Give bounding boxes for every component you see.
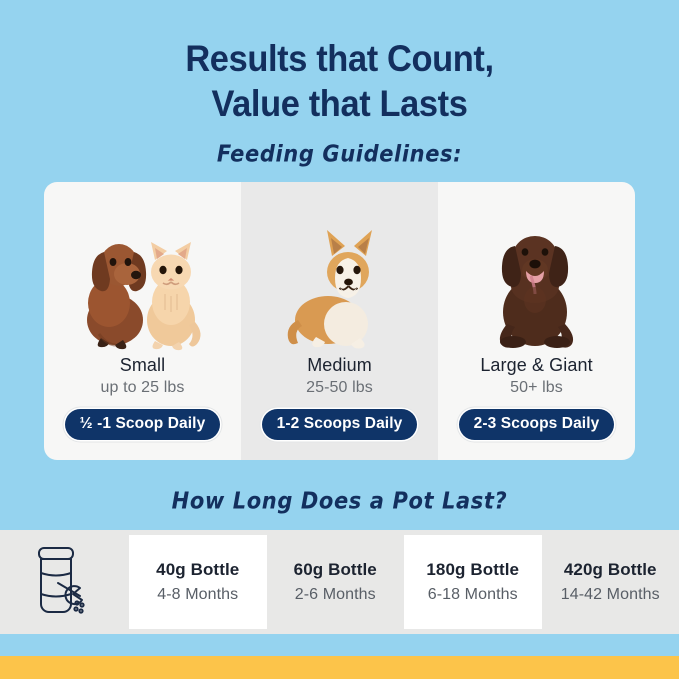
pot-duration-label: 14-42 Months: [561, 584, 660, 606]
size-label: Small: [120, 354, 166, 376]
pot-last-heading: How Long Does a Pot Last?: [0, 488, 679, 514]
page-title: Results that Count, Value that Lasts: [0, 36, 679, 126]
pot-duration-band: 40g Bottle 4-8 Months 60g Bottle 2-6 Mon…: [0, 530, 679, 634]
pot-size-label: 180g Bottle: [426, 559, 519, 581]
page-title-line-2: Value that Lasts: [24, 81, 655, 126]
pot-cell: 420g Bottle 14-42 Months: [542, 535, 679, 629]
feeding-guidelines-heading: Feeding Guidelines:: [0, 141, 679, 167]
pot-duration-label: 2-6 Months: [295, 584, 376, 606]
pot-cell: 60g Bottle 2-6 Months: [267, 535, 405, 629]
pot-size-label: 60g Bottle: [294, 559, 377, 581]
size-label: Medium: [307, 354, 372, 376]
pot-cell: 40g Bottle 4-8 Months: [129, 535, 267, 629]
feeding-column-small: Small up to 25 lbs ½ -1 Scoop Daily: [44, 182, 241, 460]
scoop-badge[interactable]: 1-2 Scoops Daily: [262, 409, 418, 440]
page-title-line-1: Results that Count,: [24, 36, 655, 81]
scoop-badge[interactable]: 2-3 Scoops Daily: [459, 409, 615, 440]
feeding-guidelines-card: Small up to 25 lbs ½ -1 Scoop Daily: [44, 182, 635, 460]
infographic-canvas: Results that Count, Value that Lasts Fee…: [0, 0, 679, 679]
pot-cell: 180g Bottle 6-18 Months: [404, 535, 542, 629]
scoop-badge[interactable]: ½ -1 Scoop Daily: [65, 409, 221, 440]
dachshund-and-kitten-photo: [44, 194, 241, 352]
feeding-column-large-giant: Large & Giant 50+ lbs 2-3 Scoops Daily: [438, 182, 635, 460]
feeding-column-medium: Medium 25-50 lbs 1-2 Scoops Daily: [241, 182, 438, 460]
jar-with-scoop-icon: [0, 530, 129, 634]
size-weight-range: 25-50 lbs: [306, 378, 373, 398]
pot-duration-label: 6-18 Months: [428, 584, 518, 606]
pot-size-label: 40g Bottle: [156, 559, 239, 581]
pot-size-label: 420g Bottle: [564, 559, 657, 581]
chocolate-labrador-photo: [438, 194, 635, 352]
pot-duration-label: 4-8 Months: [157, 584, 238, 606]
size-weight-range: 50+ lbs: [510, 378, 563, 398]
bottom-accent-stripe: [0, 656, 679, 679]
size-weight-range: up to 25 lbs: [101, 378, 185, 398]
size-label: Large & Giant: [480, 354, 592, 376]
corgi-photo: [241, 194, 438, 352]
